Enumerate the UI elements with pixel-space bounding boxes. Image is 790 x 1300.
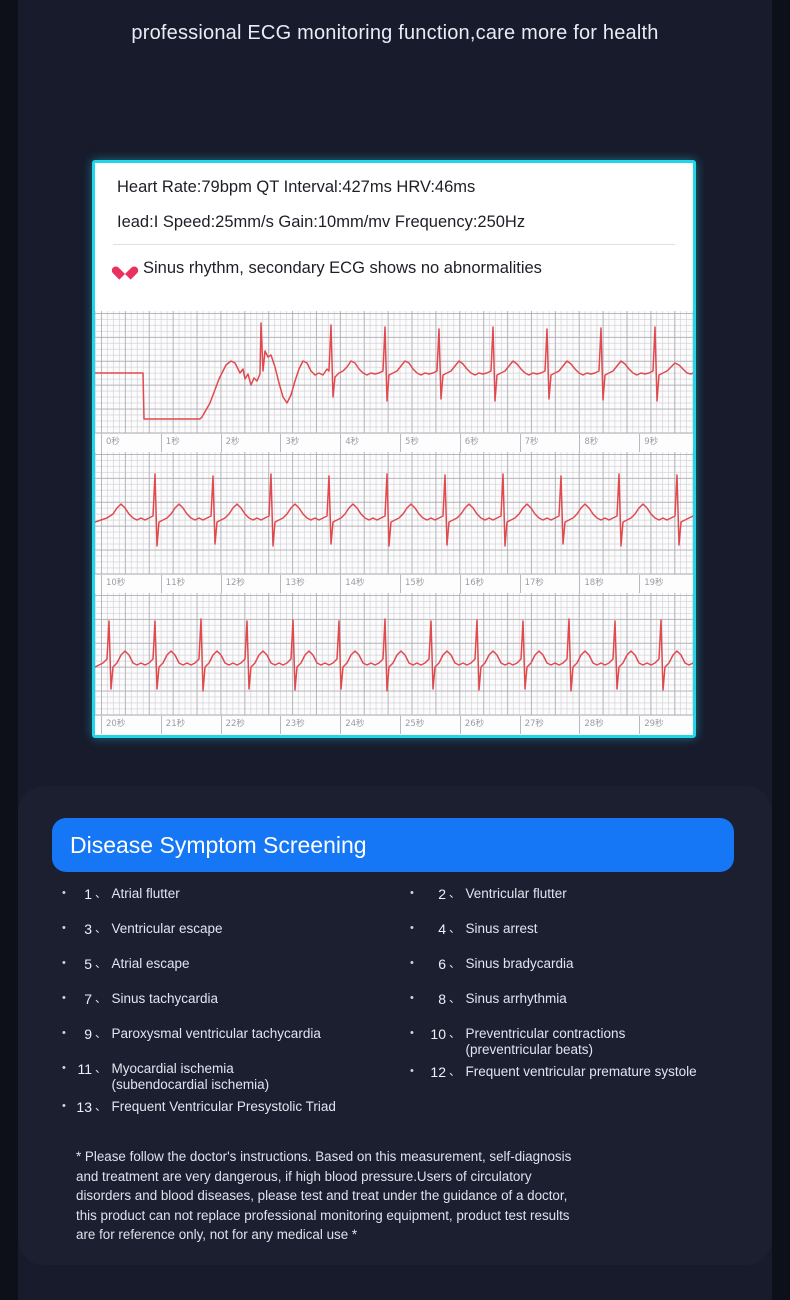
- ecg-time-tick: 13秒: [280, 575, 304, 593]
- symptom-list-item[interactable]: •13、Frequent Ventricular Presystolic Tri…: [62, 1099, 417, 1117]
- ecg-time-tick: 17秒: [520, 575, 544, 593]
- symptom-list-item[interactable]: •7、Sinus tachycardia: [62, 991, 417, 1009]
- symptom-label: Frequent ventricular premature systole: [466, 1064, 771, 1080]
- ecg-time-axis: 20秒21秒22秒23秒24秒25秒26秒27秒28秒29秒: [95, 715, 693, 734]
- symptom-grid: •1、Atrial flutter•3、Ventricular escape•5…: [18, 886, 772, 1138]
- symptom-label: Atrial flutter: [112, 886, 418, 902]
- ecg-time-tick: 0秒: [101, 434, 120, 452]
- symptom-label: Sinus arrest: [466, 921, 771, 937]
- ecg-waveform: [95, 311, 693, 433]
- ecg-time-tick: 2秒: [221, 434, 240, 452]
- symptom-list-item[interactable]: •1、Atrial flutter: [62, 886, 417, 904]
- symptom-list-item[interactable]: •2、Ventricular flutter: [410, 886, 770, 904]
- symptom-number: 12: [420, 1064, 446, 1082]
- ecg-time-tick: 26秒: [460, 716, 484, 734]
- symptom-label: Atrial escape: [112, 956, 418, 972]
- symptom-number: 7: [72, 991, 92, 1009]
- symptom-separator: 、: [92, 991, 112, 1007]
- symptom-list-item[interactable]: •5、Atrial escape: [62, 956, 417, 974]
- symptom-column-left: •1、Atrial flutter•3、Ventricular escape•5…: [62, 886, 417, 1134]
- ecg-time-tick: 5秒: [400, 434, 419, 452]
- ecg-time-tick: 8秒: [579, 434, 598, 452]
- ecg-time-tick: 25秒: [400, 716, 424, 734]
- symptom-label: Paroxysmal ventricular tachycardia: [112, 1026, 418, 1042]
- symptom-list-item[interactable]: •11、Myocardial ischemia (subendocardial …: [62, 1061, 417, 1093]
- ecg-time-axis: 0秒1秒2秒3秒4秒5秒6秒7秒8秒9秒: [95, 433, 693, 452]
- symptom-number: 2: [420, 886, 446, 904]
- ecg-report-card: Heart Rate:79bpm QT Interval:427ms HRV:4…: [92, 160, 696, 738]
- symptom-separator: 、: [92, 886, 112, 902]
- ecg-time-axis: 10秒11秒12秒13秒14秒15秒16秒17秒18秒19秒: [95, 574, 693, 593]
- bullet-icon: •: [410, 886, 420, 902]
- symptom-label: Preventricular contractions (preventricu…: [466, 1026, 771, 1058]
- ecg-time-tick: 6秒: [460, 434, 479, 452]
- ecg-time-tick: 10秒: [101, 575, 125, 593]
- bullet-icon: •: [62, 921, 72, 937]
- symptom-list-item[interactable]: •10、Preventricular contractions (prevent…: [410, 1026, 770, 1058]
- symptom-label: Ventricular flutter: [466, 886, 771, 902]
- symptom-list-item[interactable]: •8、Sinus arrhythmia: [410, 991, 770, 1009]
- bullet-icon: •: [62, 1026, 72, 1042]
- bullet-icon: •: [62, 1061, 72, 1077]
- symptom-label: Myocardial ischemia (subendocardial isch…: [112, 1061, 418, 1093]
- bullet-icon: •: [62, 991, 72, 1007]
- ecg-time-tick: 27秒: [520, 716, 544, 734]
- ecg-time-tick: 22秒: [221, 716, 245, 734]
- ecg-time-tick: 29秒: [639, 716, 663, 734]
- ecg-waveform: [95, 593, 693, 715]
- ecg-waveform: [95, 452, 693, 574]
- bullet-icon: •: [62, 956, 72, 972]
- symptom-list-item[interactable]: •9、Paroxysmal ventricular tachycardia: [62, 1026, 417, 1044]
- symptom-number: 1: [72, 886, 92, 904]
- ecg-metrics-block: Heart Rate:79bpm QT Interval:427ms HRV:4…: [95, 163, 693, 230]
- ecg-time-tick: 9秒: [639, 434, 658, 452]
- symptom-column-right: •2、Ventricular flutter•4、Sinus arrest•6、…: [410, 886, 770, 1099]
- symptom-separator: 、: [92, 1026, 112, 1042]
- symptom-list-item[interactable]: •12、Frequent ventricular premature systo…: [410, 1064, 770, 1082]
- bullet-icon: •: [410, 1026, 420, 1042]
- page-title: professional ECG monitoring function,car…: [18, 22, 772, 45]
- ecg-time-tick: 3秒: [280, 434, 299, 452]
- symptom-number: 10: [420, 1026, 446, 1044]
- symptom-separator: 、: [446, 1064, 466, 1080]
- ecg-time-tick: 21秒: [161, 716, 185, 734]
- symptom-label: Sinus arrhythmia: [466, 991, 771, 1007]
- symptom-separator: 、: [92, 921, 112, 937]
- ecg-diagnosis-row: Sinus rhythm, secondary ECG shows no abn…: [95, 245, 693, 290]
- disclaimer-text: * Please follow the doctor's instruction…: [76, 1147, 726, 1245]
- ecg-time-tick: 16秒: [460, 575, 484, 593]
- ecg-strip-row: 0秒1秒2秒3秒4秒5秒6秒7秒8秒9秒: [95, 311, 693, 452]
- ecg-strips: 0秒1秒2秒3秒4秒5秒6秒7秒8秒9秒 10秒11秒12秒13秒14秒15秒1…: [95, 311, 693, 735]
- ecg-time-tick: 1秒: [161, 434, 180, 452]
- symptom-label: Sinus tachycardia: [112, 991, 418, 1007]
- ecg-time-tick: 12秒: [221, 575, 245, 593]
- symptom-number: 6: [420, 956, 446, 974]
- symptom-number: 3: [72, 921, 92, 939]
- symptom-separator: 、: [92, 1099, 112, 1115]
- symptom-separator: 、: [446, 921, 466, 937]
- ecg-metrics-line-1: Heart Rate:79bpm QT Interval:427ms HRV:4…: [117, 179, 693, 196]
- bullet-icon: •: [410, 921, 420, 937]
- bullet-icon: •: [410, 1064, 420, 1080]
- screening-banner-title: Disease Symptom Screening: [52, 832, 367, 859]
- ecg-time-tick: 11秒: [161, 575, 185, 593]
- ecg-diagnosis-text: Sinus rhythm, secondary ECG shows no abn…: [143, 259, 542, 278]
- heart-icon: [117, 261, 133, 276]
- symptom-separator: 、: [446, 956, 466, 972]
- ecg-time-tick: 14秒: [340, 575, 364, 593]
- ecg-time-tick: 7秒: [520, 434, 539, 452]
- ecg-time-tick: 18秒: [579, 575, 603, 593]
- symptom-number: 5: [72, 956, 92, 974]
- ecg-time-tick: 23秒: [280, 716, 304, 734]
- ecg-time-tick: 4秒: [340, 434, 359, 452]
- symptom-number: 9: [72, 1026, 92, 1044]
- ecg-time-tick: 24秒: [340, 716, 364, 734]
- symptom-number: 13: [72, 1099, 92, 1117]
- symptom-separator: 、: [92, 956, 112, 972]
- ecg-time-tick: 20秒: [101, 716, 125, 734]
- symptom-number: 8: [420, 991, 446, 1009]
- screening-banner: Disease Symptom Screening: [52, 818, 734, 872]
- bullet-icon: •: [62, 1099, 72, 1115]
- symptom-separator: 、: [446, 1026, 466, 1042]
- symptom-label: Frequent Ventricular Presystolic Triad: [112, 1099, 418, 1115]
- bullet-icon: •: [62, 886, 72, 902]
- ecg-time-tick: 19秒: [639, 575, 663, 593]
- symptom-number: 4: [420, 921, 446, 939]
- symptom-separator: 、: [446, 886, 466, 902]
- ecg-time-tick: 15秒: [400, 575, 424, 593]
- symptom-list-item[interactable]: •6、Sinus bradycardia: [410, 956, 770, 974]
- symptom-number: 11: [72, 1061, 92, 1079]
- bullet-icon: •: [410, 956, 420, 972]
- symptom-label: Sinus bradycardia: [466, 956, 771, 972]
- bullet-icon: •: [410, 991, 420, 1007]
- ecg-time-tick: 28秒: [579, 716, 603, 734]
- symptom-separator: 、: [446, 991, 466, 1007]
- ecg-metrics-line-2: Iead:I Speed:25mm/s Gain:10mm/mv Frequen…: [117, 214, 693, 231]
- symptom-separator: 、: [92, 1061, 112, 1077]
- symptom-list-item[interactable]: •3、Ventricular escape: [62, 921, 417, 939]
- ecg-strip-row: 20秒21秒22秒23秒24秒25秒26秒27秒28秒29秒: [95, 593, 693, 734]
- symptom-list-item[interactable]: •4、Sinus arrest: [410, 921, 770, 939]
- ecg-strip-row: 10秒11秒12秒13秒14秒15秒16秒17秒18秒19秒: [95, 452, 693, 593]
- symptom-label: Ventricular escape: [112, 921, 418, 937]
